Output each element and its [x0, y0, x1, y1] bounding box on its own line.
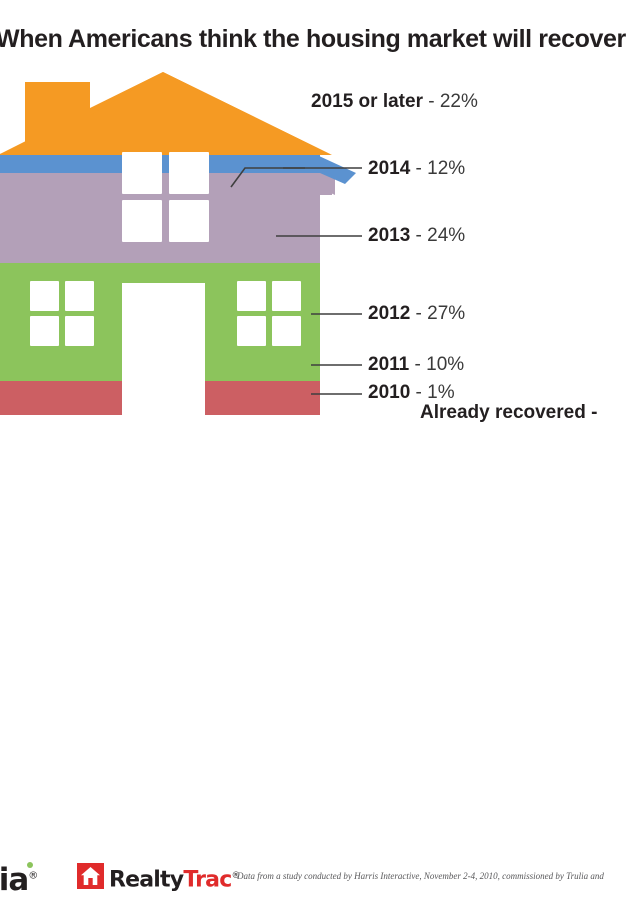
callout-2010: 2010 - 1% [368, 382, 455, 404]
callout-2013-pct: 24% [427, 225, 465, 246]
callout-2010-year: 2010 [368, 382, 410, 403]
callout-2012-year: 2012 [368, 303, 410, 324]
realtytrac-trac: Trac [183, 867, 231, 892]
callout-2015: 2015 or later - 22% [311, 91, 478, 113]
callout-2010-dash: - [410, 382, 427, 403]
trulia-trademark: ® [28, 871, 37, 882]
front-door [122, 283, 205, 415]
callout-2015-dash: - [423, 91, 440, 112]
source-note: Data from a study conducted by Harris In… [237, 870, 640, 882]
callout-already-recovered: Already recovered - [420, 402, 597, 424]
housing-recovery-infographic: When Americans think the housing market … [0, 0, 640, 480]
callout-2013: 2013 - 24% [368, 225, 465, 247]
realtytrac-wordmark: RealtyTrac® [109, 862, 240, 894]
callout-2011-pct: 10% [426, 354, 464, 375]
callout-recovered-dash: - [586, 402, 598, 423]
callout-2013-dash: - [410, 225, 427, 246]
segment-2015-orange [0, 72, 332, 155]
callout-recovered-label: Already recovered [420, 402, 586, 423]
callout-2014-year: 2014 [368, 158, 410, 179]
callout-2012-dash: - [410, 303, 427, 324]
callout-2011-dash: - [409, 354, 426, 375]
trulia-wordmark: ulia [0, 862, 28, 898]
realtytrac-house-icon [77, 863, 104, 889]
callout-2014-pct: 12% [427, 158, 465, 179]
callout-2014: 2014 - 12% [368, 158, 465, 180]
callout-2015-year: 2015 or later [311, 91, 423, 112]
callout-2012-pct: 27% [427, 303, 465, 324]
realtytrac-realty: Realty [109, 867, 183, 892]
callout-2010-pct: 1% [427, 382, 454, 403]
footer: ulia® RealtyTrac® Data from a study cond… [0, 425, 640, 480]
trulia-logo: ulia® [0, 862, 37, 898]
callout-2011: 2011 - 10% [368, 354, 464, 376]
callout-2012: 2012 - 27% [368, 303, 465, 325]
callout-2015-pct: 22% [440, 91, 478, 112]
callout-2014-dash: - [410, 158, 427, 179]
page-title: When Americans think the housing market … [0, 24, 640, 54]
segment-2013-mauve [0, 160, 335, 263]
callout-2011-year: 2011 [368, 354, 409, 375]
callout-2013-year: 2013 [368, 225, 410, 246]
